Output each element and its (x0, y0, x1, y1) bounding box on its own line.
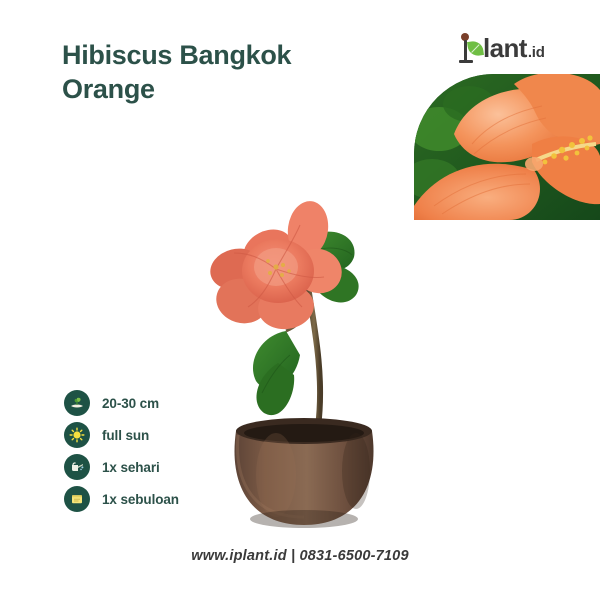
leaf-icon (467, 40, 484, 57)
fertilizer-box-icon (64, 486, 90, 512)
page-title: Hibiscus Bangkok Orange (62, 38, 392, 106)
feature-label-sunlight: full sun (102, 428, 149, 443)
sun-icon (64, 422, 90, 448)
plant-height-icon (64, 390, 90, 416)
feature-label-height: 20-30 cm (102, 396, 159, 411)
iplant-mark-icon (458, 30, 484, 64)
product-card: Hibiscus Bangkok Orange lant .id (0, 0, 600, 600)
feature-row-watering: 1x sehari (64, 452, 264, 482)
feature-row-fertilizer: 1x sebuloan (64, 484, 264, 514)
ground-line-icon (459, 60, 473, 63)
hibiscus-closeup-photo (414, 74, 600, 220)
feature-label-watering: 1x sehari (102, 460, 160, 475)
care-feature-list: 20-30 cm full sun (64, 388, 264, 516)
feature-label-fertilizer: 1x sebuloan (102, 492, 179, 507)
feature-row-height: 20-30 cm (64, 388, 264, 418)
feature-row-sunlight: full sun (64, 420, 264, 450)
footer-contact: www.iplant.id | 0831-6500-7109 (0, 548, 600, 564)
brand-logo: lant .id (458, 30, 545, 64)
brand-name: lant (483, 35, 527, 64)
watering-can-icon (64, 454, 90, 480)
brand-tld: .id (528, 45, 545, 64)
